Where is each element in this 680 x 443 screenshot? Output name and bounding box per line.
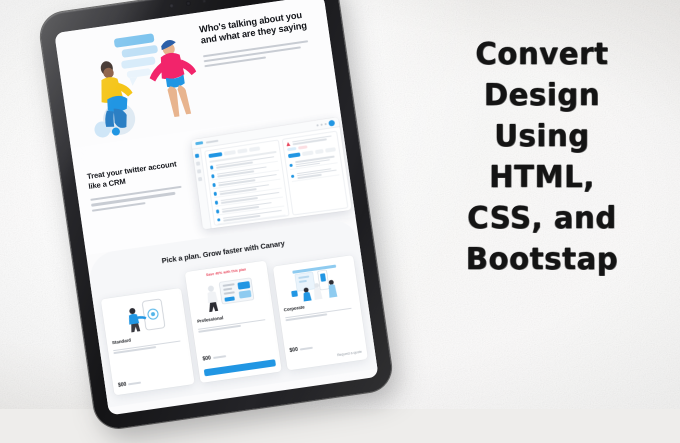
tablet-device: Who's talking about you and what are the… bbox=[38, 0, 395, 431]
pricing-card-standard[interactable]: Standard $00 bbox=[101, 288, 195, 396]
tab-4 bbox=[325, 147, 335, 152]
headline-line-4: HTML, bbox=[418, 157, 666, 198]
tab-active bbox=[208, 152, 222, 158]
crm-copy: Treat your twitter account like a CRM bbox=[86, 157, 195, 211]
text-line bbox=[224, 224, 261, 226]
dashboard-window bbox=[191, 117, 352, 229]
price-period bbox=[300, 347, 313, 350]
avatar bbox=[217, 218, 221, 222]
price-value: $00 bbox=[289, 347, 298, 354]
subscribe-button[interactable] bbox=[204, 359, 276, 376]
menu-dot-icon bbox=[316, 124, 318, 126]
avatar bbox=[214, 192, 218, 196]
avatar bbox=[289, 163, 293, 167]
tab-2 bbox=[224, 150, 236, 156]
crm-dashboard-mockup bbox=[189, 118, 351, 230]
pricing-card-corporate[interactable]: Corporate $00 Request a quote bbox=[272, 255, 367, 371]
menu-dot-icon bbox=[320, 123, 322, 125]
pricing-card-professional[interactable]: Save 40% with this plan bbox=[185, 261, 281, 383]
price-period bbox=[128, 382, 141, 385]
price-value: $00 bbox=[202, 355, 211, 362]
headline-line-6: Bootstap bbox=[418, 239, 666, 280]
avatar bbox=[215, 201, 219, 205]
price-period bbox=[213, 356, 226, 359]
sidebar-item-contacts bbox=[196, 161, 200, 165]
sensor-dot-icon bbox=[203, 0, 206, 3]
menu-dot-icon bbox=[324, 122, 326, 124]
website-viewport: Who's talking about you and what are the… bbox=[54, 0, 378, 415]
avatar bbox=[211, 174, 215, 178]
avatar bbox=[328, 119, 335, 126]
hero-illustration bbox=[67, 19, 209, 142]
tablet-sensor-cluster bbox=[169, 0, 206, 9]
tab-active bbox=[288, 153, 301, 159]
dashboard-detail-panel bbox=[281, 131, 348, 216]
avatar bbox=[210, 166, 214, 170]
tab-3 bbox=[315, 149, 324, 154]
sidebar-item-home bbox=[195, 154, 199, 158]
chip-1 bbox=[287, 147, 296, 152]
promo-headline: Convert Design Using HTML, CSS, and Boot… bbox=[414, 34, 670, 280]
camera-dot-icon bbox=[169, 3, 175, 9]
headline-line-1: Convert bbox=[418, 34, 666, 75]
headline-line-5: CSS, and bbox=[418, 198, 666, 239]
warning-icon bbox=[286, 142, 291, 147]
avatar bbox=[291, 175, 295, 179]
price-value: $00 bbox=[118, 382, 127, 389]
headline-line-2: Design bbox=[418, 75, 666, 116]
tab-2 bbox=[302, 151, 313, 157]
sidebar-item-messages bbox=[197, 169, 201, 173]
topbar-actions bbox=[316, 119, 335, 128]
tab-4 bbox=[249, 146, 260, 152]
tablet-screen: Who's talking about you and what are the… bbox=[54, 0, 378, 415]
lens-dot-icon bbox=[186, 1, 192, 7]
sidebar-item-settings bbox=[198, 177, 202, 181]
avatar bbox=[216, 209, 220, 213]
app-name-placeholder bbox=[206, 139, 219, 143]
hero-copy: Who's talking about you and what are the… bbox=[199, 8, 324, 68]
headline-line-3: Using bbox=[418, 116, 666, 157]
tab-3 bbox=[237, 148, 247, 153]
chip-2 bbox=[298, 145, 307, 150]
avatar bbox=[212, 183, 216, 187]
plan-price: $00 bbox=[118, 373, 189, 389]
dashboard-list-panel bbox=[204, 139, 289, 225]
app-logo-icon bbox=[195, 141, 203, 145]
tablet-frame: Who's talking about you and what are the… bbox=[38, 0, 395, 431]
